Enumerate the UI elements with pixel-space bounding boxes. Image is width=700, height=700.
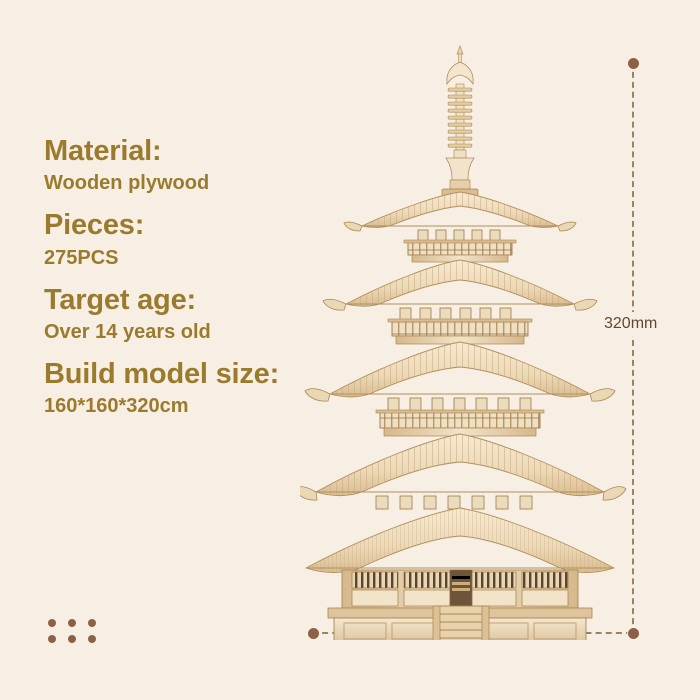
spec-item-material: Material: Wooden plywood — [44, 136, 344, 196]
spec-label-build-size: Build model size: — [44, 359, 344, 390]
spec-value-pieces: 275PCS — [44, 245, 344, 271]
pagoda-roof-tier-4 — [323, 260, 597, 344]
pagoda-roof-tier-1 — [306, 508, 614, 573]
spec-value-build-size: 160*160*320cm — [44, 393, 344, 419]
spec-value-target-age: Over 14 years old — [44, 319, 344, 345]
spec-label-pieces: Pieces: — [44, 210, 344, 241]
spec-item-target-age: Target age: Over 14 years old — [44, 285, 344, 345]
pagoda-model-image — [300, 40, 640, 640]
specification-list: Material: Wooden plywood Pieces: 275PCS … — [44, 136, 344, 433]
spec-value-material: Wooden plywood — [44, 170, 344, 196]
spec-item-build-size: Build model size: 160*160*320cm — [44, 359, 344, 419]
product-spec-page: Material: Wooden plywood Pieces: 275PCS … — [0, 0, 700, 700]
pagoda-spire — [442, 46, 478, 196]
decorative-dot — [48, 619, 56, 627]
spec-label-material: Material: — [44, 136, 344, 167]
decorative-dot — [68, 619, 76, 627]
pagoda-roof-tier-2 — [300, 434, 626, 509]
decorative-dot — [48, 635, 56, 643]
pagoda-roof-tier-3 — [305, 342, 615, 436]
spec-item-pieces: Pieces: 275PCS — [44, 210, 344, 270]
decorative-dot — [88, 619, 96, 627]
decorative-dot — [88, 635, 96, 643]
decorative-dot-grid — [48, 619, 108, 651]
pagoda-roof-tier-5 — [344, 192, 576, 262]
decorative-dot — [68, 635, 76, 643]
pagoda-ground-floor — [314, 570, 608, 640]
spec-label-target-age: Target age: — [44, 285, 344, 316]
